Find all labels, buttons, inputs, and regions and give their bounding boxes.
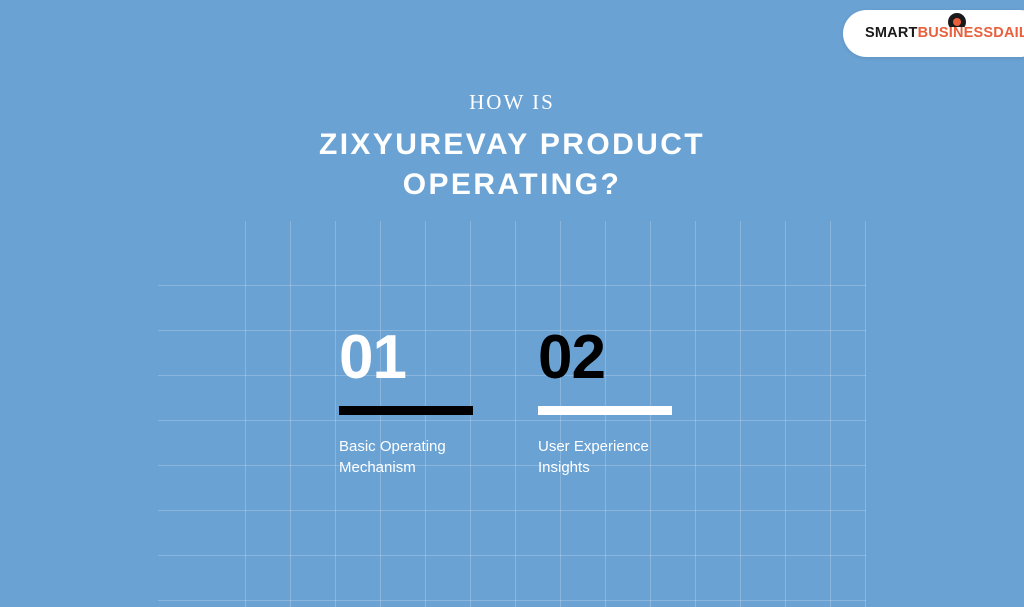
numbered-item-01: 01 Basic Operating Mechanism — [339, 327, 549, 478]
brand-word-daily: DAILY — [993, 25, 1024, 41]
brand-logo-pill[interactable]: SMARTBUSINESSDAILY — [843, 10, 1024, 57]
item-number: 02 — [538, 327, 748, 389]
page-title-line-1: ZIXYUREVAY PRODUCT — [0, 125, 1024, 165]
item-description-line-1: Basic Operating — [339, 436, 499, 457]
grid-line-vertical — [335, 221, 336, 607]
brand-word-smart: SMART — [865, 25, 918, 41]
grid-line-vertical — [290, 221, 291, 607]
headline-eyebrow: HOW IS — [0, 92, 1024, 113]
grid-line-vertical — [245, 221, 246, 607]
item-description-line-1: User Experience — [538, 436, 698, 457]
brand-word-business: BUSINESS — [918, 25, 994, 41]
item-rule — [339, 406, 473, 415]
grid-line-horizontal — [158, 600, 866, 601]
item-description: User Experience Insights — [538, 436, 698, 478]
grid-line-horizontal — [158, 555, 866, 556]
brand-wordmark: SMARTBUSINESSDAILY — [865, 26, 1024, 41]
slide-canvas: SMARTBUSINESSDAILY HOW IS ZIXYUREVAY PRO… — [0, 0, 1024, 607]
page-title-line-2: OPERATING? — [0, 165, 1024, 205]
grid-line-horizontal — [158, 510, 866, 511]
page-title: ZIXYUREVAY PRODUCT OPERATING? — [0, 125, 1024, 205]
grid-line-vertical — [830, 221, 831, 607]
grid-line-vertical — [785, 221, 786, 607]
item-description-line-2: Insights — [538, 457, 698, 478]
item-rule — [538, 406, 672, 415]
numbered-item-02: 02 User Experience Insights — [538, 327, 748, 478]
dot-shape-icon — [953, 18, 961, 26]
item-number: 01 — [339, 327, 549, 389]
headline-block: HOW IS ZIXYUREVAY PRODUCT OPERATING? — [0, 92, 1024, 205]
arc-with-dot-icon — [948, 13, 966, 27]
item-description: Basic Operating Mechanism — [339, 436, 499, 478]
grid-line-horizontal — [158, 285, 866, 286]
grid-line-vertical — [865, 221, 866, 607]
brand-logo-inner: SMARTBUSINESSDAILY — [865, 10, 1024, 57]
item-description-line-2: Mechanism — [339, 457, 499, 478]
